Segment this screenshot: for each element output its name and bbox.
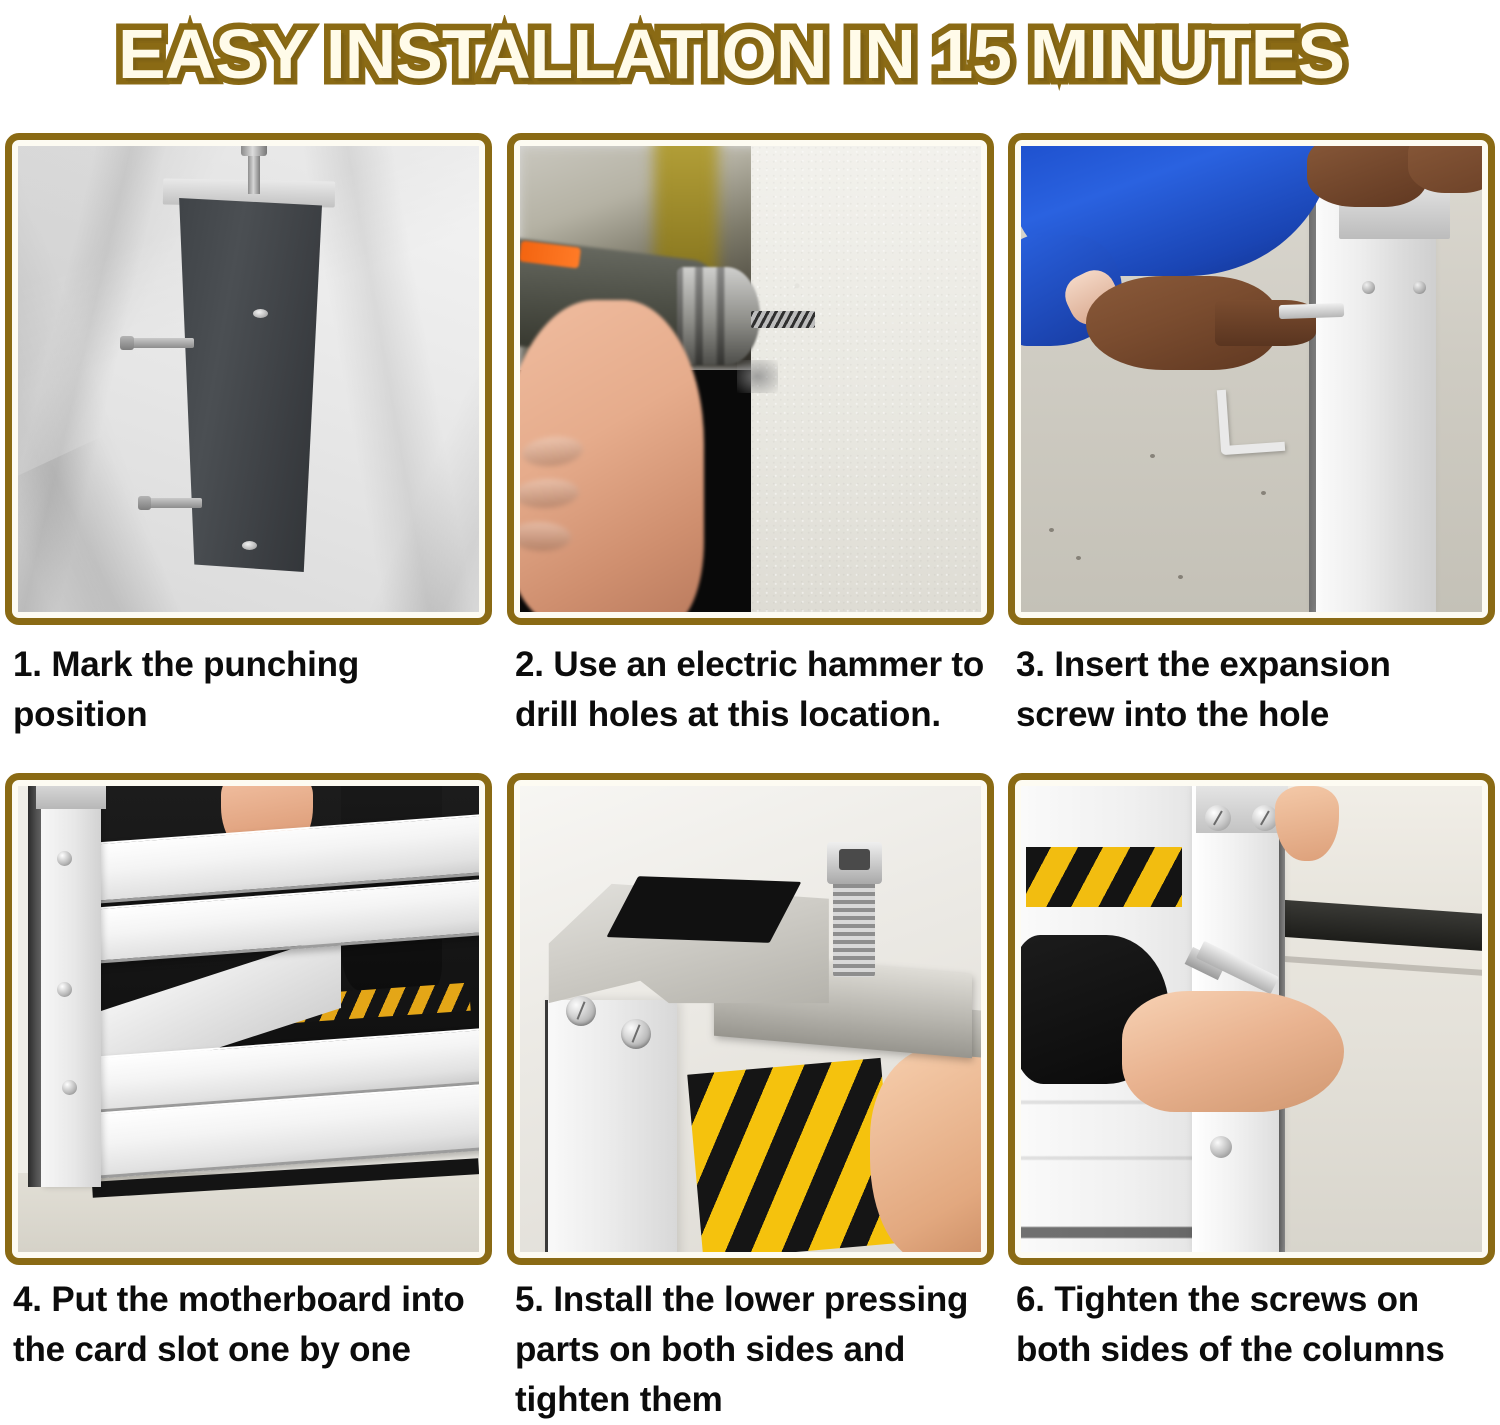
- steps-grid: 1. Mark the punching position: [0, 108, 1500, 1403]
- hazard-tape: [687, 1058, 896, 1252]
- finger-crease: [520, 521, 571, 552]
- step-1-photo-frame: [5, 133, 492, 625]
- floor-speck: [1261, 491, 1266, 495]
- step-4-photo-frame: [5, 773, 492, 1265]
- white-wall: [751, 146, 982, 612]
- upper-hand: [1408, 146, 1482, 193]
- drill-bit: [751, 311, 816, 328]
- step-card-5: 5. Install the lower pressing parts on b…: [507, 748, 994, 1403]
- hand: [1122, 991, 1343, 1112]
- allen-key-icon: [1217, 386, 1286, 455]
- bracket-plate: [170, 198, 322, 572]
- hazard-tape: [1026, 847, 1183, 908]
- post-cap: [36, 786, 105, 809]
- top-bolt: [248, 152, 260, 194]
- step-4-caption: 4. Put the motherboard into the card slo…: [13, 1275, 491, 1375]
- hand: [520, 300, 704, 612]
- step-card-2: 2. Use an electric hammer to drill holes…: [507, 108, 994, 748]
- expansion-stud: [126, 338, 194, 348]
- step-6-photo: [1021, 786, 1482, 1252]
- steps-row-1: 1. Mark the punching position: [0, 108, 1500, 748]
- step-2-photo: [520, 146, 981, 612]
- finger-crease: [520, 477, 579, 510]
- step-card-6: 6. Tighten the screws on both sides of t…: [1008, 748, 1495, 1403]
- floor-speck: [1178, 575, 1183, 579]
- column-screw: [1205, 805, 1231, 831]
- step-2-caption: 2. Use an electric hammer to drill holes…: [515, 640, 993, 740]
- post-screw: [62, 1080, 77, 1095]
- step-1-caption: 1. Mark the punching position: [13, 640, 491, 740]
- header-banner: EASY INSTALLATION IN 15 MINUTES: [0, 0, 1500, 108]
- mounting-hole: [242, 541, 257, 550]
- step-3-caption: 3. Insert the expansion screw into the h…: [1016, 640, 1494, 740]
- step-card-1: 1. Mark the punching position: [5, 108, 492, 748]
- lower-screw: [1210, 1136, 1232, 1158]
- step-card-4: 4. Put the motherboard into the card slo…: [5, 748, 492, 1403]
- step-4-photo: [18, 786, 479, 1252]
- step-1-photo: [18, 146, 479, 612]
- floor-speck: [1049, 528, 1054, 532]
- step-5-photo: [520, 786, 981, 1252]
- page-title: EASY INSTALLATION IN 15 MINUTES: [118, 18, 1344, 90]
- post-shadow-edge: [28, 786, 42, 1187]
- step-5-photo-frame: [507, 773, 994, 1265]
- floor-speck: [1150, 454, 1155, 458]
- column-screw: [1252, 805, 1278, 831]
- step-3-photo: [1021, 146, 1482, 612]
- steps-row-2: 4. Put the motherboard into the card slo…: [0, 748, 1500, 1403]
- step-card-3: 3. Insert the expansion screw into the h…: [1008, 108, 1495, 748]
- finger-crease: [520, 434, 584, 470]
- step-3-photo-frame: [1008, 133, 1495, 625]
- step-6-photo-frame: [1008, 773, 1495, 1265]
- drill-chuck: [677, 267, 760, 365]
- drill-dust: [737, 360, 778, 393]
- thumb: [870, 1047, 981, 1252]
- bolt-head: [827, 842, 882, 884]
- expansion-screw: [1279, 303, 1344, 319]
- step-2-photo-frame: [507, 133, 994, 625]
- mounting-hole: [253, 309, 268, 318]
- column-screw: [1413, 281, 1426, 294]
- step-6-caption: 6. Tighten the screws on both sides of t…: [1016, 1275, 1494, 1375]
- bracket-slot: [607, 876, 802, 942]
- phillips-screw: [566, 996, 596, 1026]
- white-column: [548, 1000, 677, 1252]
- expansion-stud: [144, 498, 202, 508]
- post-screw: [57, 982, 72, 997]
